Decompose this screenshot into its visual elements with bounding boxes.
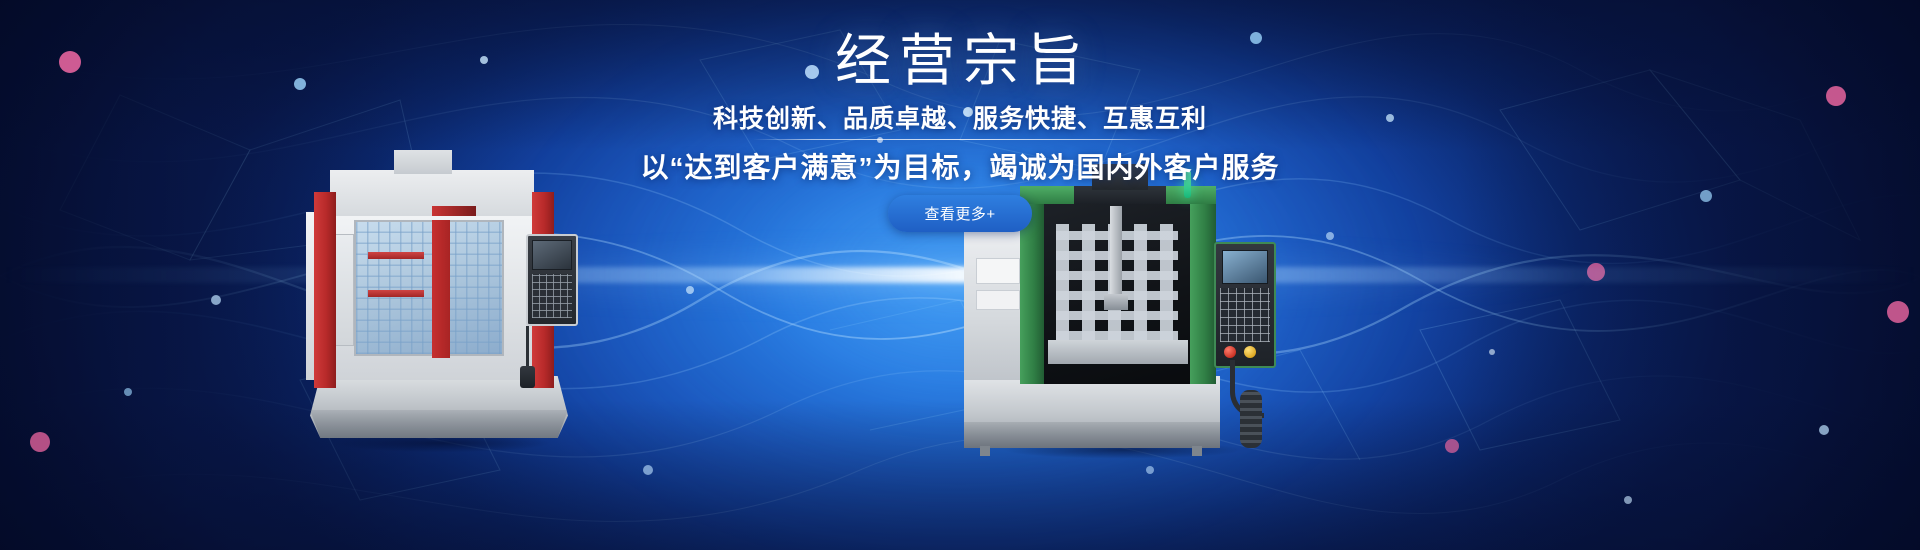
page-title: 经营宗旨 [0, 28, 1920, 94]
banner-subtitle: 科技创新、品质卓越、服务快捷、互惠互利 [0, 99, 1920, 135]
text-divider [753, 139, 1167, 140]
view-more-button[interactable]: 查看更多+ [888, 195, 1032, 232]
banner-content: 经营宗旨 科技创新、品质卓越、服务快捷、互惠互利 以“达到客户满意”为目标，竭诚… [0, 0, 1920, 550]
promo-banner: 经营宗旨 科技创新、品质卓越、服务快捷、互惠互利 以“达到客户满意”为目标，竭诚… [0, 0, 1920, 550]
banner-tagline: 以“达到客户满意”为目标，竭诚为国内外客户服务 [0, 146, 1920, 186]
